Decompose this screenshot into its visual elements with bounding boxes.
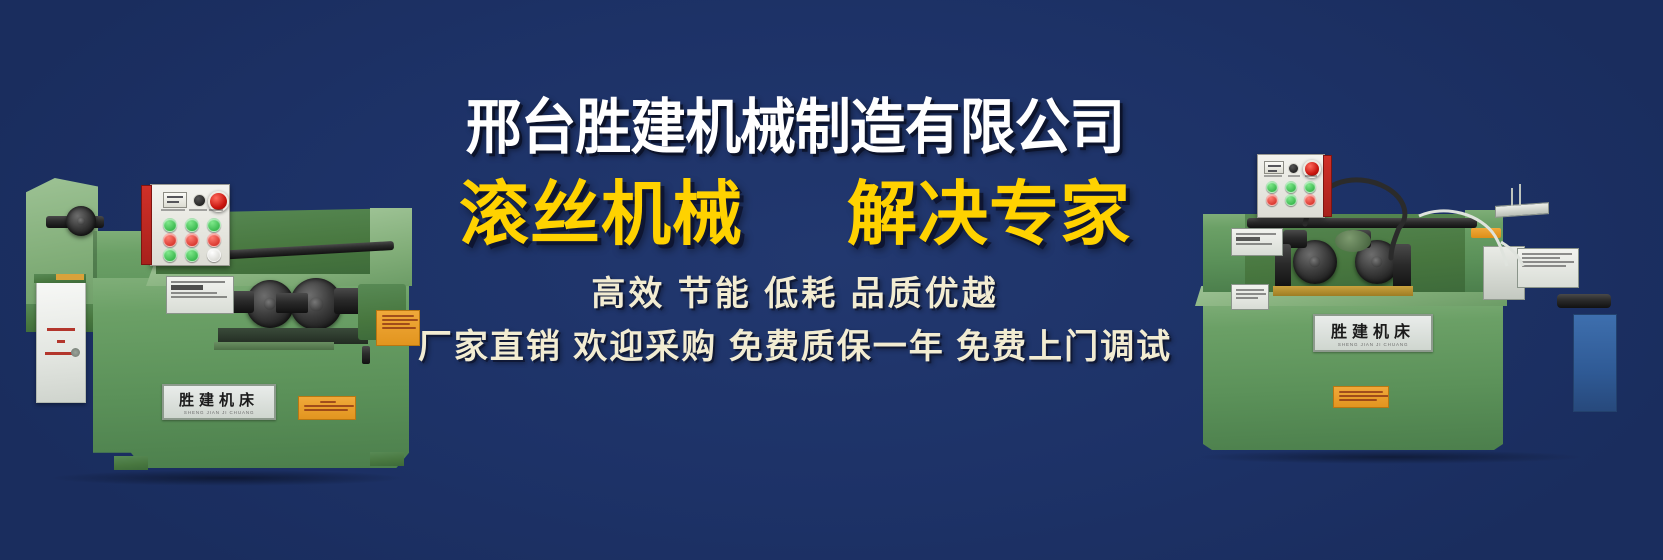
stop-button-right-1[interactable] bbox=[1266, 194, 1278, 206]
machine-right-small-plate bbox=[1231, 284, 1269, 310]
machine-cabinet-yellow-strip bbox=[56, 274, 84, 280]
machine-right-blue-cabinet bbox=[1573, 314, 1617, 412]
machine-right-antenna-1 bbox=[1511, 188, 1513, 206]
machine-note-sticker bbox=[298, 396, 356, 420]
stop-button-2[interactable] bbox=[185, 233, 199, 247]
aux-button-1[interactable] bbox=[163, 248, 177, 262]
tagline-line-1: 高效 节能 低耗 品质优越 bbox=[400, 274, 1190, 314]
machine-nameplate-right-cn: 胜建机床 bbox=[1331, 318, 1415, 342]
machine-right-outfeed-shaft bbox=[1557, 294, 1611, 308]
stop-button-right-2[interactable] bbox=[1285, 194, 1297, 206]
stop-button-right-3[interactable] bbox=[1304, 194, 1316, 206]
start-button-2[interactable] bbox=[185, 218, 199, 232]
machine-right-warning-sticker bbox=[1333, 386, 1389, 408]
machine-oil-nozzle bbox=[362, 346, 370, 364]
machine-right-work-table bbox=[1273, 286, 1413, 296]
machine-nameplate-right-en: SHENG JIAN JI CHUANG bbox=[1338, 342, 1409, 347]
headline: 滚丝机械解决专家 bbox=[400, 174, 1190, 254]
machine-right-info-plate bbox=[1231, 228, 1283, 256]
machine-image-right: 胜建机床 SHENG JIAN JI CHUANG bbox=[1165, 118, 1620, 458]
control-panel-red-side bbox=[141, 185, 152, 265]
control-panel-left[interactable] bbox=[150, 184, 230, 266]
stop-button-1[interactable] bbox=[163, 233, 177, 247]
display-meter-right-icon bbox=[1264, 161, 1284, 174]
promo-banner: 胜建机床 SHENG JIAN JI CHUANG bbox=[0, 0, 1663, 560]
machine-side-cabinet-door bbox=[36, 281, 86, 403]
display-meter-icon bbox=[163, 192, 187, 208]
start-button-3[interactable] bbox=[207, 218, 221, 232]
banner-text-block: 邢台胜建机械制造有限公司 滚丝机械解决专家 高效 节能 低耗 品质优越 厂家直销… bbox=[400, 96, 1190, 368]
machine-right-slide-right bbox=[1393, 244, 1411, 290]
start-button-right-2[interactable] bbox=[1285, 181, 1297, 193]
machine-nameplate-cn: 胜建机床 bbox=[179, 389, 259, 410]
company-name: 邢台胜建机械制造有限公司 bbox=[428, 96, 1163, 160]
machine-right-cable-2-icon bbox=[1415, 208, 1525, 268]
aux-button-3[interactable] bbox=[207, 248, 221, 262]
machine-roller-spacer bbox=[276, 293, 308, 313]
machine-right-spec-plate bbox=[1517, 248, 1579, 288]
machine-foot-left bbox=[114, 456, 148, 470]
start-button-right-3[interactable] bbox=[1304, 181, 1316, 193]
headline-left: 滚丝机械 bbox=[459, 175, 743, 253]
start-button-1[interactable] bbox=[163, 218, 177, 232]
machine-roller-bed-lip bbox=[214, 342, 334, 350]
machine-ground-shadow bbox=[48, 470, 408, 486]
machine-nameplate-right: 胜建机床 SHENG JIAN JI CHUANG bbox=[1313, 314, 1433, 352]
machine-foot-right bbox=[370, 452, 404, 466]
machine-ground-shadow-right bbox=[1195, 450, 1585, 464]
machine-image-left: 胜建机床 SHENG JIAN JI CHUANG bbox=[18, 88, 438, 480]
aux-button-2[interactable] bbox=[185, 248, 199, 262]
stop-button-3[interactable] bbox=[207, 233, 221, 247]
selector-knob[interactable] bbox=[193, 194, 206, 207]
headline-right: 解决专家 bbox=[847, 175, 1131, 253]
machine-rear-roller bbox=[66, 206, 96, 236]
start-button-right-1[interactable] bbox=[1266, 181, 1278, 193]
tagline-line-2: 厂家直销 欢迎采购 免费质保一年 免费上门调试 bbox=[400, 326, 1190, 368]
machine-nameplate-en: SHENG JIAN JI CHUANG bbox=[184, 410, 255, 415]
control-panel-right-red-side bbox=[1323, 155, 1332, 217]
machine-spec-plate bbox=[166, 276, 234, 314]
control-panel-right[interactable] bbox=[1257, 154, 1325, 218]
selector-knob-right[interactable] bbox=[1288, 163, 1299, 174]
machine-right-green-pulley bbox=[1335, 230, 1371, 252]
machine-right-antenna-2 bbox=[1519, 184, 1521, 206]
machine-nameplate-left: 胜建机床 SHENG JIAN JI CHUANG bbox=[162, 384, 276, 420]
